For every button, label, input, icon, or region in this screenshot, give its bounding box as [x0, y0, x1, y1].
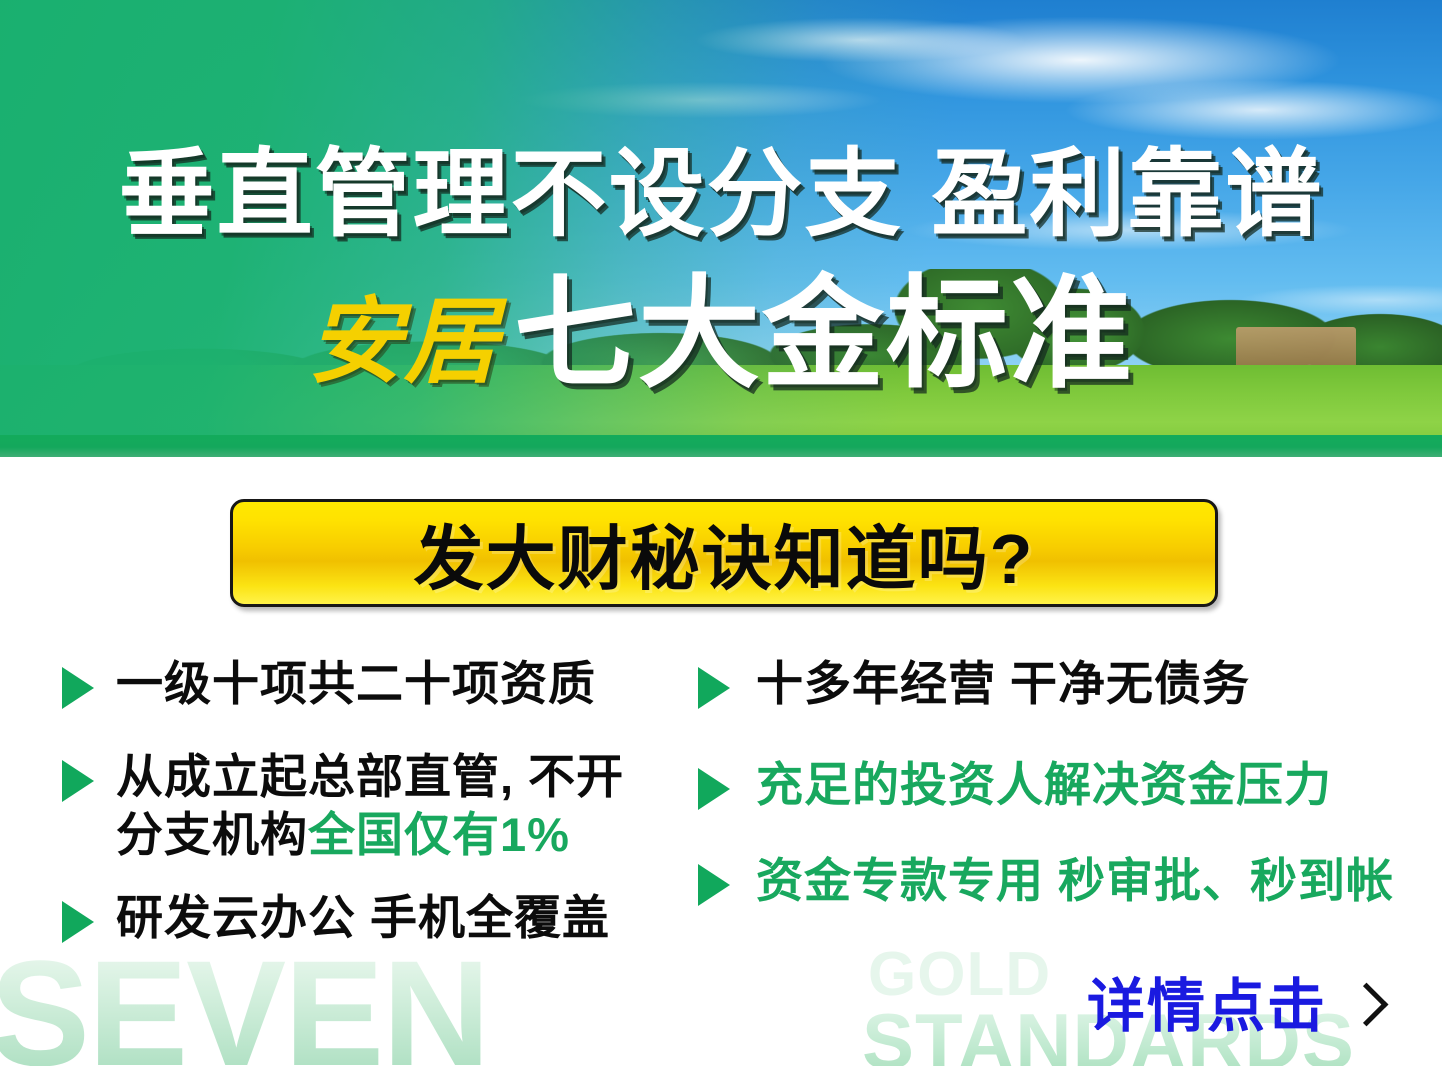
triangle-bullet-icon [698, 864, 730, 906]
list-item: 研发云办公 手机全覆盖 [62, 889, 702, 946]
headline-line-2: 安居 七大金标准 [0, 272, 1442, 396]
triangle-bullet-icon [698, 768, 730, 810]
list-item: 资金专款专用 秒审批、秒到帐 [698, 852, 1398, 909]
headline-main-text: 七大金标准 [514, 272, 1134, 396]
headline-brand-prefix: 安居 [308, 288, 514, 396]
feature-text-left-2-line1: 从成立起总部直管, 不开 [116, 750, 624, 803]
feature-text-left-3: 研发云办公 手机全覆盖 [116, 889, 610, 946]
feature-text-left-2-highlight: 全国仅有1% [308, 808, 570, 861]
detail-link[interactable]: 详情点击 [1087, 978, 1382, 1036]
feature-text-left-1: 一级十项共二十项资质 [116, 655, 596, 712]
triangle-bullet-icon [62, 901, 94, 943]
promo-banner: 垂直管理不设分支 盈利靠谱 安居 七大金标准 发大财秘诀知道吗? SEVEN G… [0, 0, 1442, 1066]
triangle-bullet-icon [698, 667, 730, 709]
triangle-bullet-icon [62, 760, 94, 802]
feature-column-right: 十多年经营 干净无债务 充足的投资人解决资金压力 资金专款专用 秒审批、秒到帐 [698, 655, 1398, 943]
feature-list: 一级十项共二十项资质 从成立起总部直管, 不开 分支机构全国仅有1% 研发云办公… [0, 655, 1442, 985]
detail-link-label: 详情点击 [1087, 978, 1327, 1036]
list-item: 从成立起总部直管, 不开 分支机构全国仅有1% [62, 748, 702, 863]
feature-column-left: 一级十项共二十项资质 从成立起总部直管, 不开 分支机构全国仅有1% 研发云办公… [62, 655, 702, 980]
list-item: 十多年经营 干净无债务 [698, 655, 1398, 712]
headline-line-1: 垂直管理不设分支 盈利靠谱 [0, 116, 1442, 255]
feature-text-right-3: 资金专款专用 秒审批、秒到帐 [756, 852, 1394, 909]
feature-text-right-2: 充足的投资人解决资金压力 [756, 756, 1332, 813]
chevron-right-icon [1345, 982, 1389, 1026]
hook-question-label: 发大财秘诀知道吗? [414, 503, 1035, 604]
triangle-bullet-icon [62, 667, 94, 709]
hook-question-button[interactable]: 发大财秘诀知道吗? [230, 499, 1218, 607]
list-item: 充足的投资人解决资金压力 [698, 756, 1398, 813]
feature-text-left-2-line2-plain: 分支机构 [116, 808, 308, 861]
list-item: 一级十项共二十项资质 [62, 655, 702, 712]
feature-text-right-1: 十多年经营 干净无债务 [756, 655, 1250, 712]
hero-bottom-green-bar [0, 435, 1442, 457]
feature-text-left-2: 从成立起总部直管, 不开 分支机构全国仅有1% [116, 748, 624, 863]
hero-section: 垂直管理不设分支 盈利靠谱 安居 七大金标准 [0, 0, 1442, 457]
